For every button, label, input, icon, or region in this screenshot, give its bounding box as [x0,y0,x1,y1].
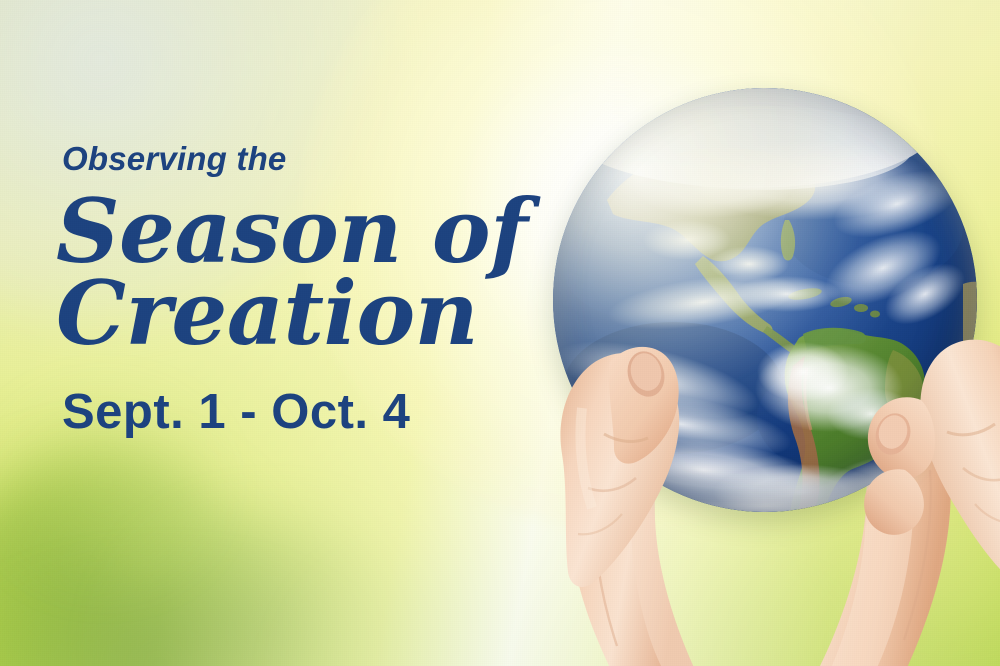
headline-text-block: Observing the Season of Creation Sept. 1… [56,142,556,437]
season-of-creation-banner: Observing the Season of Creation Sept. 1… [0,0,1000,666]
kicker-text: Observing the [62,142,556,175]
page-title: Season of Creation [56,189,556,356]
date-range-text: Sept. 1 - Oct. 4 [62,388,556,437]
headline-line-2: Creation [56,271,556,355]
